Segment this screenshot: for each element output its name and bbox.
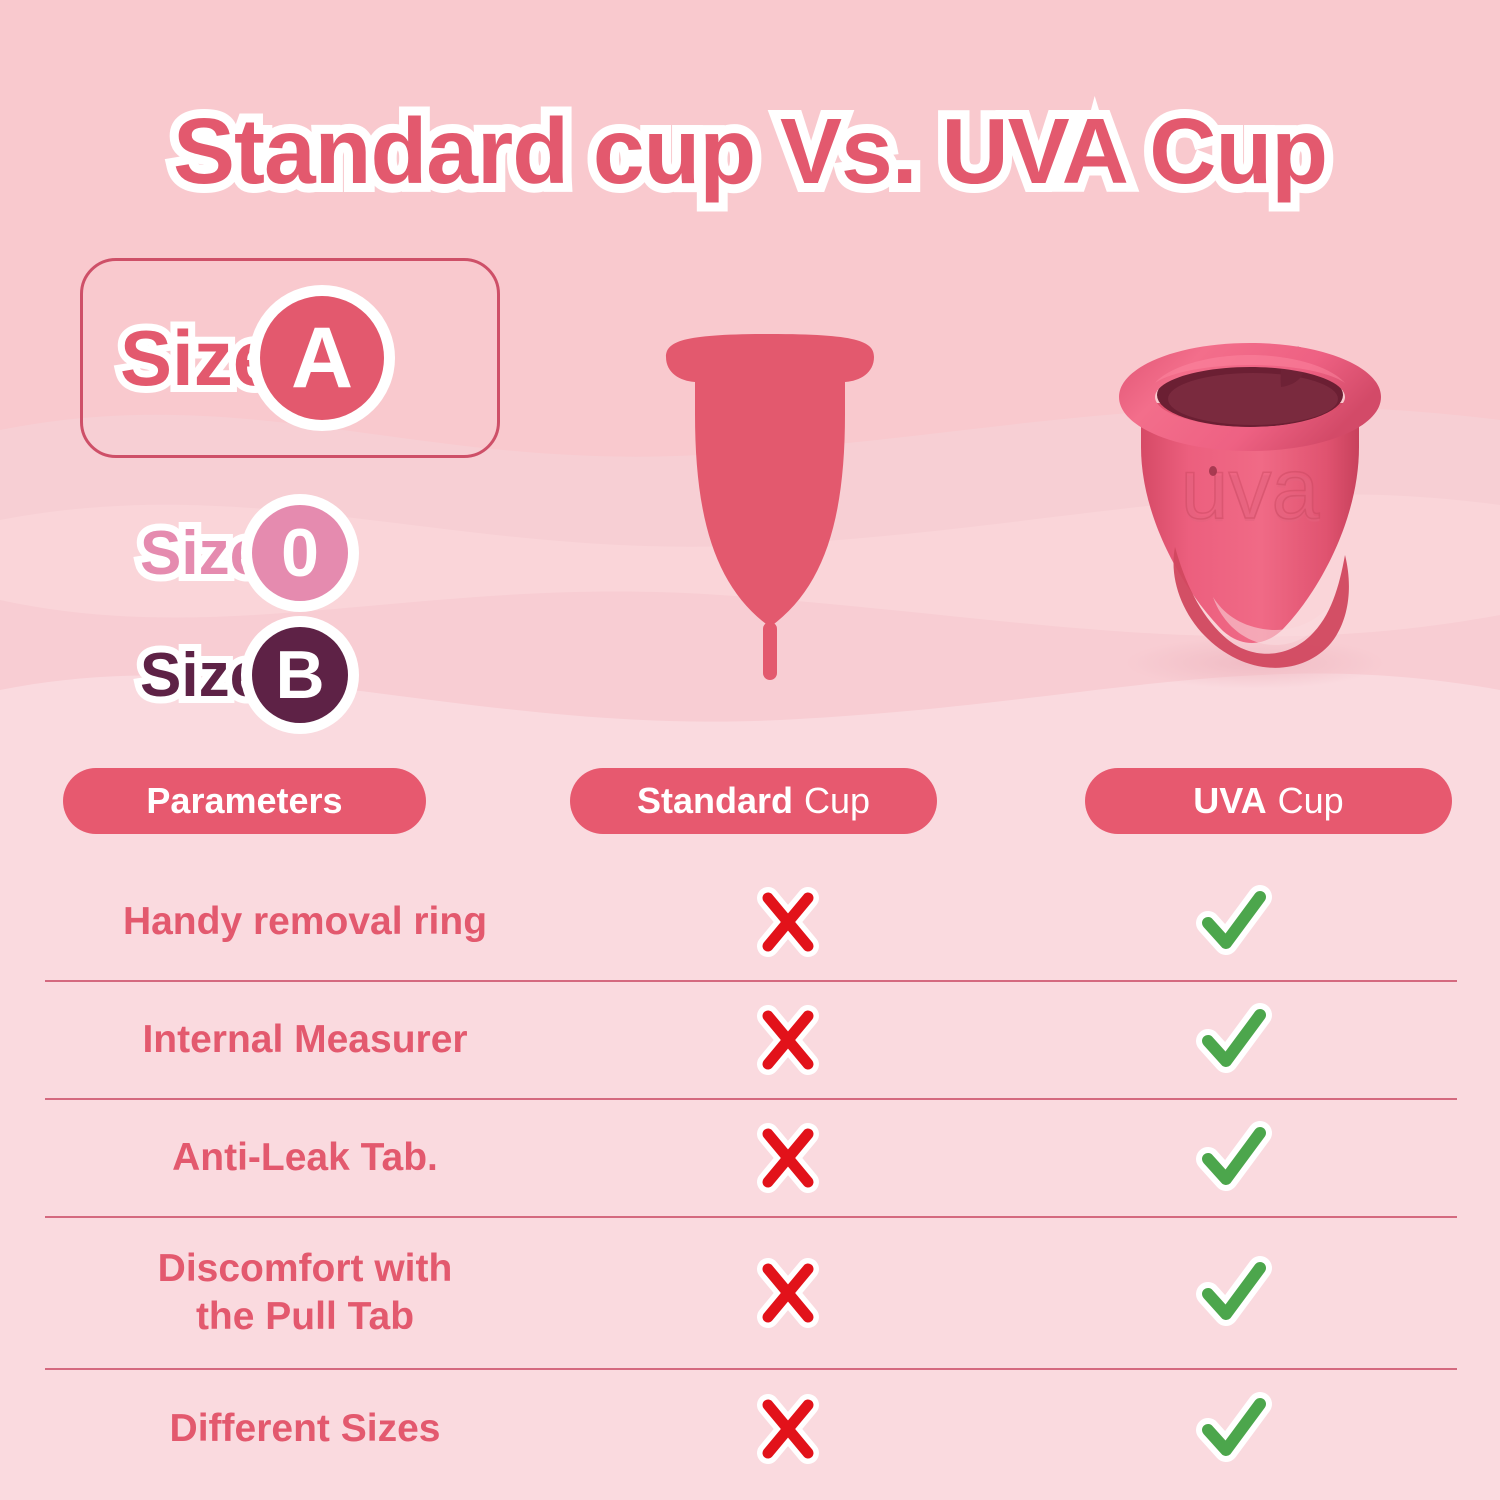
svg-text:uva: uva xyxy=(1181,441,1320,537)
size-badge-a[interactable]: Size A xyxy=(120,296,384,420)
size-b-label: Size xyxy=(140,640,264,711)
table-header-row: Parameters Standard Cup UVA Cup xyxy=(45,768,1457,864)
check-icon xyxy=(1195,1121,1273,1195)
header-parameters-label: Parameters xyxy=(146,780,342,822)
standard-cup-mark-cell xyxy=(565,885,1011,959)
uva-cup-mark-cell xyxy=(1011,885,1457,959)
row-parameter-label: Internal Measurer xyxy=(45,1016,565,1064)
comparison-table: Parameters Standard Cup UVA Cup Handy re… xyxy=(45,768,1457,1500)
cross-icon xyxy=(753,1392,823,1466)
row-parameter-label: Different Sizes xyxy=(45,1405,565,1453)
header-standard-strong: Standard xyxy=(637,780,793,822)
check-icon xyxy=(1195,1256,1273,1330)
header-pill-uva-cup: UVA Cup xyxy=(1085,768,1452,834)
size-a-letter: A xyxy=(260,296,384,420)
header-pill-standard-cup: Standard Cup xyxy=(570,768,937,834)
standard-cup-mark-cell xyxy=(565,1121,1011,1195)
cross-icon xyxy=(753,885,823,959)
infographic-canvas: Standard cup Vs. UVA Cup Size A Size 0 S… xyxy=(0,0,1500,1500)
table-row: Different Sizes xyxy=(45,1370,1457,1488)
standard-cup-mark-cell xyxy=(565,1392,1011,1466)
header-uva-strong: UVA xyxy=(1193,780,1266,822)
header-uva-light: Cup xyxy=(1278,780,1344,822)
standard-cup-illustration xyxy=(640,330,900,685)
cross-icon xyxy=(753,1121,823,1195)
row-parameter-label: Discomfort withthe Pull Tab xyxy=(45,1245,565,1342)
size-a-label: Size xyxy=(120,313,276,404)
uva-cup-mark-cell xyxy=(1011,1256,1457,1330)
table-body: Handy removal ringInternal MeasurerAnti-… xyxy=(45,864,1457,1488)
page-title: Standard cup Vs. UVA Cup xyxy=(0,98,1500,205)
table-row: Handy removal ring xyxy=(45,864,1457,982)
header-pill-parameters: Parameters xyxy=(63,768,426,834)
check-icon xyxy=(1195,1392,1273,1466)
standard-cup-mark-cell xyxy=(565,1003,1011,1077)
table-row: Discomfort withthe Pull Tab xyxy=(45,1218,1457,1370)
row-parameter-label: Handy removal ring xyxy=(45,898,565,946)
header-standard-light: Cup xyxy=(804,780,870,822)
table-row: Internal Measurer xyxy=(45,982,1457,1100)
cross-icon xyxy=(753,1256,823,1330)
size-badge-0[interactable]: Size 0 xyxy=(140,505,348,601)
size-0-letter: 0 xyxy=(252,505,348,601)
uva-cup-mark-cell xyxy=(1011,1003,1457,1077)
uva-cup-photo: uva uva xyxy=(1095,325,1405,695)
size-b-letter: B xyxy=(252,627,348,723)
check-icon xyxy=(1195,885,1273,959)
size-0-label: Size xyxy=(140,518,264,589)
standard-cup-mark-cell xyxy=(565,1256,1011,1330)
check-icon xyxy=(1195,1003,1273,1077)
uva-cup-mark-cell xyxy=(1011,1121,1457,1195)
row-parameter-label: Anti-Leak Tab. xyxy=(45,1134,565,1182)
size-badge-b[interactable]: Size B xyxy=(140,627,348,723)
cross-icon xyxy=(753,1003,823,1077)
table-row: Anti-Leak Tab. xyxy=(45,1100,1457,1218)
uva-cup-mark-cell xyxy=(1011,1392,1457,1466)
